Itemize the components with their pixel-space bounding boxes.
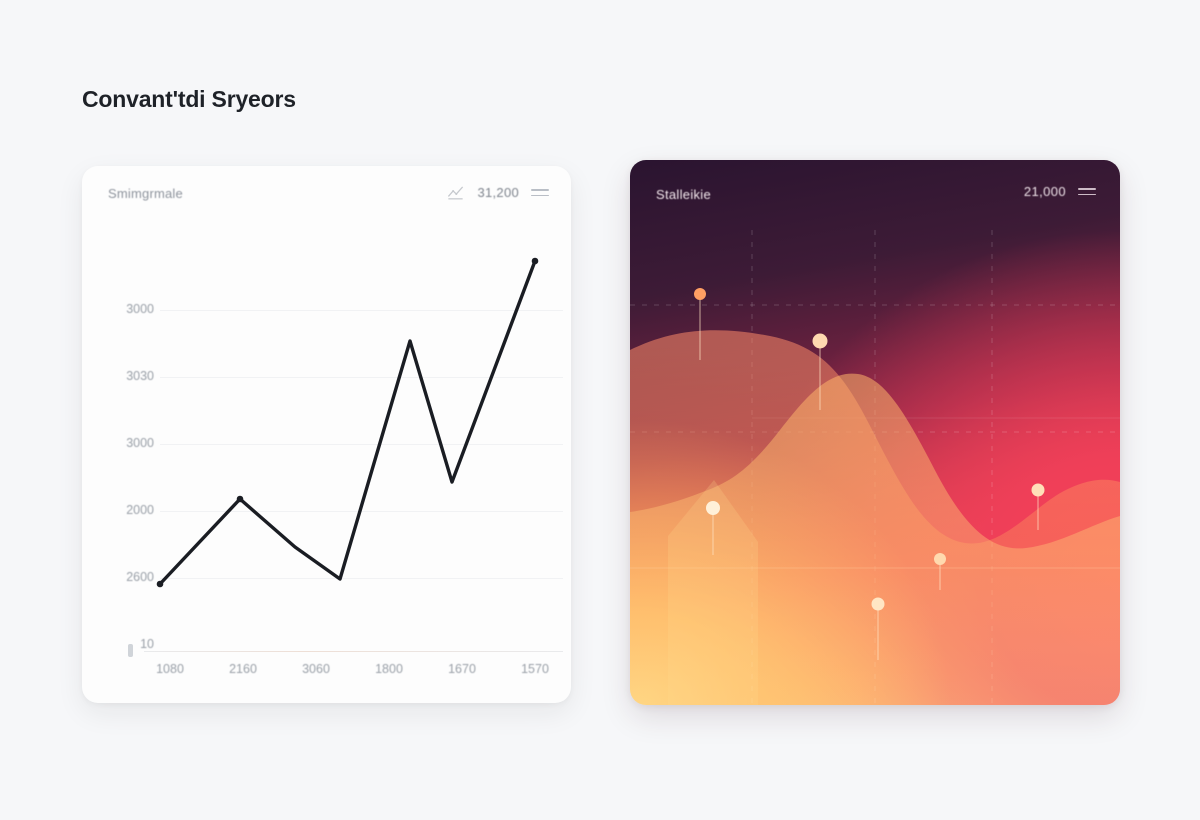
- data-point: [694, 288, 706, 300]
- menu-icon[interactable]: [531, 189, 549, 196]
- line-chart-card: Smimgrmale 31,200 3000 3030: [82, 166, 571, 703]
- right-chart-svg: [630, 160, 1120, 705]
- data-point: [872, 598, 885, 611]
- left-card-value: 31,200: [477, 185, 519, 200]
- right-card-value: 21,000: [1024, 184, 1066, 199]
- x-tick-label: 1670: [448, 662, 476, 676]
- x-tick-label: 1570: [521, 662, 549, 676]
- x-axis-line: [144, 651, 563, 652]
- gradient-area-chart-card: Stalleikie 21,000: [630, 160, 1120, 705]
- x-tick-label: 2160: [229, 662, 257, 676]
- line-series: [82, 228, 571, 703]
- data-point: [1032, 484, 1045, 497]
- data-point: [934, 553, 946, 565]
- x-tick-label: 1080: [156, 662, 184, 676]
- menu-icon[interactable]: [1078, 188, 1096, 195]
- x-tick-label: 3060: [302, 662, 330, 676]
- left-card-label: Smimgrmale: [108, 186, 183, 201]
- x-tick-label: 1800: [375, 662, 403, 676]
- right-card-header-actions: 21,000: [1024, 184, 1096, 199]
- right-card-label: Stalleikie: [656, 187, 711, 202]
- data-point: [813, 334, 828, 349]
- left-plot-area: 3000 3030 3000 2000 2600 10 1080 2160 30…: [82, 228, 571, 703]
- left-card-header: Smimgrmale 31,200: [82, 166, 571, 228]
- chart-icon: [446, 183, 465, 202]
- data-point: [706, 501, 720, 515]
- left-card-header-actions: 31,200: [446, 183, 549, 202]
- x-axis-tick-mark: [128, 644, 133, 657]
- page-title: Convant'tdi Sryeors: [82, 86, 296, 113]
